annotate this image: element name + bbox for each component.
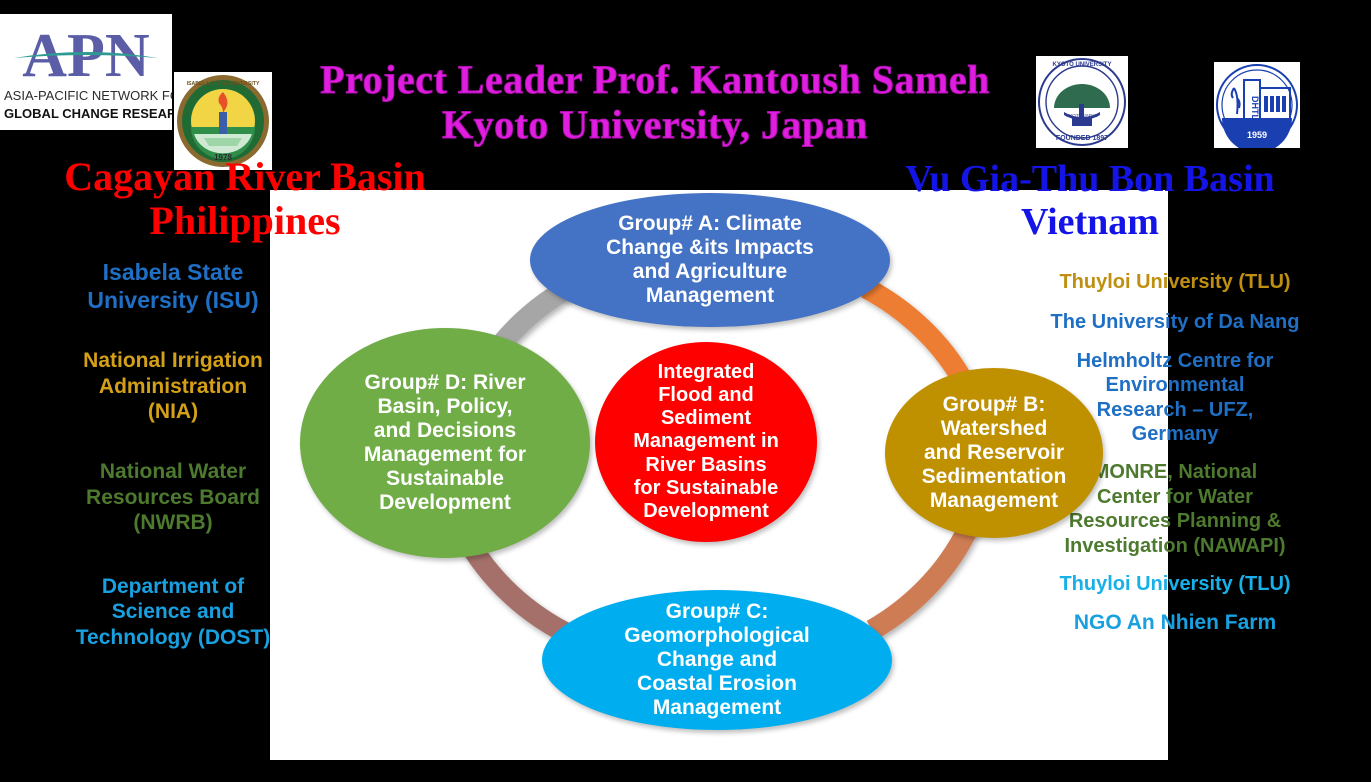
apn-line1-text: ASIA-PACIFIC NETWORK FOR xyxy=(4,88,172,103)
project-title: Project Leader Prof. Kantoush Sameh Kyot… xyxy=(215,58,1095,148)
tlu-logo-graphic: DHTL 1959 xyxy=(1214,62,1300,148)
slide-canvas: APN ASIA-PACIFIC NETWORK FOR GLOBAL CHAN… xyxy=(0,0,1371,782)
tlu-year-text: 1959 xyxy=(1247,130,1267,140)
apn-logo-graphic: APN ASIA-PACIFIC NETWORK FOR GLOBAL CHAN… xyxy=(0,14,172,130)
central-theme-node[interactable]: Integrated Flood and Sediment Management… xyxy=(595,342,817,542)
thuyloi-university-logo: DHTL 1959 xyxy=(1214,62,1300,148)
tlu-mark-text: DHTL xyxy=(1250,96,1260,120)
group-c-node[interactable]: Group# C: Geomorphological Change and Co… xyxy=(542,590,892,730)
apn-logo: APN ASIA-PACIFIC NETWORK FOR GLOBAL CHAN… xyxy=(0,14,172,130)
cycle-diagram: Group# A: Climate Change &its Impacts an… xyxy=(270,190,1168,760)
group-d-node[interactable]: Group# D: River Basin, Policy, and Decis… xyxy=(300,328,590,558)
connector-b-c xyxy=(872,520,972,630)
group-a-node[interactable]: Group# A: Climate Change &its Impacts an… xyxy=(530,193,890,327)
group-b-node[interactable]: Group# B: Watershed and Reservoir Sedime… xyxy=(885,368,1103,538)
apn-line2-text: GLOBAL CHANGE RESEARCH xyxy=(4,106,172,121)
